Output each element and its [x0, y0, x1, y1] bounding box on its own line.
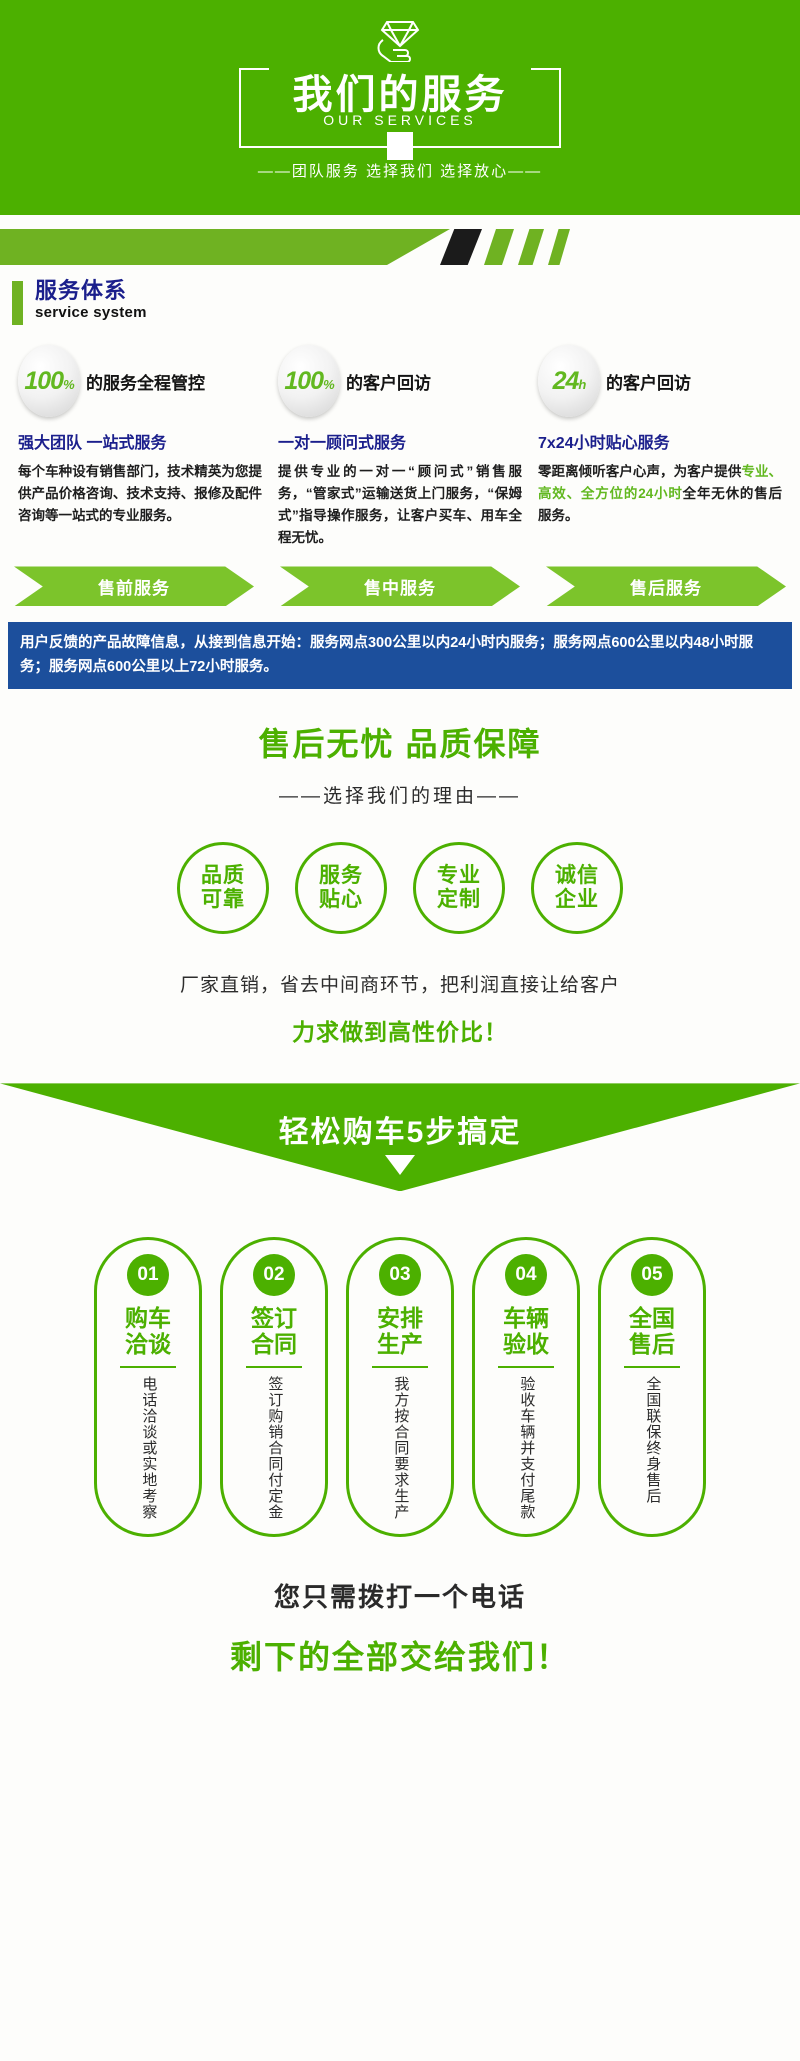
step-title-line-1: 购车 — [125, 1306, 171, 1331]
step-title-line-2: 洽谈 — [125, 1332, 171, 1357]
banner-stripe-dark — [440, 229, 482, 265]
step-title-line-1: 安排 — [377, 1306, 423, 1331]
badge-line-2: 定制 — [437, 888, 481, 912]
buy-steps-title: 轻松购车5步搞定 — [0, 1107, 800, 1151]
hero-banner: 我们的服务 OUR SERVICES ——团队服务 选择我们 选择放心—— — [0, 0, 800, 215]
banner-main-shape — [0, 229, 450, 265]
service-stage-chevrons: 售前服务 售中服务 售后服务 — [0, 548, 800, 606]
step-title-line-2: 合同 — [251, 1332, 297, 1357]
down-triangle-icon — [385, 1155, 415, 1175]
section-label-en: service system — [35, 304, 147, 321]
hero-title-en: OUR SERVICES — [323, 112, 477, 128]
promo-line-2: 力求做到高性价比！ — [0, 1013, 800, 1047]
footer-line-2: 剩下的全部交给我们！ — [0, 1632, 800, 1678]
step-description: 电话洽谈或实地考察 — [139, 1376, 158, 1520]
stat-oval: 100% — [18, 345, 80, 417]
feature-body-highlight-2: 24小时 — [638, 486, 682, 501]
stat-value: 100% — [24, 367, 73, 396]
chevron-midsale[interactable]: 售中服务 — [280, 566, 520, 606]
feature-body: 每个车种设有销售部门，技术精英为您提供产品价格咨询、技术支持、报修及配件咨询等一… — [18, 461, 262, 527]
reason-badge: 品质 可靠 — [177, 842, 269, 934]
step-item: 04 车辆 验收 验收车辆并支付尾款 — [472, 1237, 580, 1537]
feature-column: 24h 的客户回访 7x24小时贴心服务 零距离倾听客户心声，为客户提供专业、高… — [530, 343, 790, 548]
badge-line-2: 企业 — [555, 888, 599, 912]
badge-line-2: 可靠 — [201, 888, 245, 912]
banner-stripe-3 — [548, 229, 570, 265]
stat-oval: 100% — [278, 345, 340, 417]
badge-line-1: 专业 — [437, 864, 481, 888]
step-divider — [624, 1366, 680, 1368]
step-item: 02 签订 合同 签订购销合同付定金 — [220, 1237, 328, 1537]
feature-body-pre: 零距离倾听客户心声，为客户提供 — [538, 464, 741, 479]
buy-steps-arrow: 轻松购车5步搞定 — [0, 1083, 800, 1213]
step-title-line-1: 全国 — [629, 1306, 675, 1331]
section-accent-bar — [12, 281, 23, 325]
feature-column: 100% 的客户回访 一对一顾问式服务 提供专业的一对一“顾问式”销售服务，“管… — [270, 343, 530, 548]
step-number: 03 — [379, 1254, 421, 1296]
step-divider — [120, 1366, 176, 1368]
step-title-line-2: 售后 — [629, 1332, 675, 1357]
step-item: 05 全国 售后 全国联保终身售后 — [598, 1237, 706, 1537]
step-item: 01 购车 洽谈 电话洽谈或实地考察 — [94, 1237, 202, 1537]
banner-stripe-1 — [484, 229, 514, 265]
feature-body: 零距离倾听客户心声，为客户提供专业、高效、全方位的24小时全年无休的售后服务。 — [538, 461, 782, 527]
feature-title: 一对一顾问式服务 — [278, 429, 522, 453]
step-description: 验收车辆并支付尾款 — [517, 1376, 536, 1520]
badge-line-1: 品质 — [201, 864, 245, 888]
chevron-aftersale[interactable]: 售后服务 — [546, 566, 786, 606]
hero-subtitle: ——团队服务 选择我们 选择放心—— — [258, 160, 542, 181]
step-title-line-2: 验收 — [503, 1332, 549, 1357]
step-description: 我方按合同要求生产 — [391, 1376, 410, 1520]
stat-caption: 的服务全程管控 — [86, 369, 205, 394]
feature-column: 100% 的服务全程管控 强大团队 一站式服务 每个车种设有销售部门，技术精英为… — [10, 343, 270, 548]
step-description: 全国联保终身售后 — [643, 1376, 662, 1504]
section-label-service-system: 服务体系 service system — [0, 265, 800, 325]
step-title-line-2: 生产 — [377, 1332, 423, 1357]
badge-line-2: 贴心 — [319, 888, 363, 912]
step-title-line-1: 签订 — [251, 1306, 297, 1331]
step-description: 签订购销合同付定金 — [265, 1376, 284, 1520]
reasons-subtitle: ——选择我们的理由—— — [0, 781, 800, 808]
step-title: 安排 生产 — [377, 1306, 423, 1357]
reason-badge: 服务 贴心 — [295, 842, 387, 934]
stat-value: 24h — [553, 367, 586, 396]
step-number: 01 — [127, 1254, 169, 1296]
feature-columns: 100% 的服务全程管控 强大团队 一站式服务 每个车种设有销售部门，技术精英为… — [0, 325, 800, 548]
step-item: 03 安排 生产 我方按合同要求生产 — [346, 1237, 454, 1537]
section-label-cn: 服务体系 — [35, 279, 147, 303]
step-title-line-1: 车辆 — [503, 1306, 549, 1331]
reasons-title: 售后无忧 品质保障 — [0, 719, 800, 765]
step-title: 车辆 验收 — [503, 1306, 549, 1357]
feature-title: 强大团队 一站式服务 — [18, 429, 262, 453]
reason-badge: 专业 定制 — [413, 842, 505, 934]
response-policy-bar: 用户反馈的产品故障信息，从接到信息开始：服务网点300公里以内24小时内服务；服… — [8, 622, 792, 689]
feature-head: 100% 的客户回访 — [278, 343, 522, 419]
step-title: 签订 合同 — [251, 1306, 297, 1357]
feature-head: 100% 的服务全程管控 — [18, 343, 262, 419]
step-number: 02 — [253, 1254, 295, 1296]
step-divider — [246, 1366, 302, 1368]
step-number: 05 — [631, 1254, 673, 1296]
feature-body: 提供专业的一对一“顾问式”销售服务，“管家式”运输送货上门服务，“保姆式”指导操… — [278, 461, 522, 548]
feature-title: 7x24小时贴心服务 — [538, 429, 782, 453]
promo-line-1: 厂家直销，省去中间商环节，把利润直接让给客户 — [0, 970, 800, 997]
step-title: 全国 售后 — [629, 1306, 675, 1357]
stat-value: 100% — [284, 367, 333, 396]
chevron-presale[interactable]: 售前服务 — [14, 566, 254, 606]
badge-line-1: 诚信 — [555, 864, 599, 888]
footer-line-1: 您只需拨打一个电话 — [0, 1577, 800, 1614]
step-number: 04 — [505, 1254, 547, 1296]
purchase-steps: 01 购车 洽谈 电话洽谈或实地考察 02 签订 合同 签订购销合同付定金 03… — [0, 1237, 800, 1537]
stat-caption: 的客户回访 — [606, 369, 691, 394]
step-divider — [372, 1366, 428, 1368]
reason-badges: 品质 可靠 服务 贴心 专业 定制 诚信 企业 — [0, 842, 800, 934]
stat-caption: 的客户回访 — [346, 369, 431, 394]
badge-line-1: 服务 — [319, 864, 363, 888]
stat-oval: 24h — [538, 345, 600, 417]
reason-badge: 诚信 企业 — [531, 842, 623, 934]
angled-banner — [0, 229, 800, 265]
banner-stripe-2 — [518, 229, 544, 265]
feature-head: 24h 的客户回访 — [538, 343, 782, 419]
step-divider — [498, 1366, 554, 1368]
step-title: 购车 洽谈 — [125, 1306, 171, 1357]
